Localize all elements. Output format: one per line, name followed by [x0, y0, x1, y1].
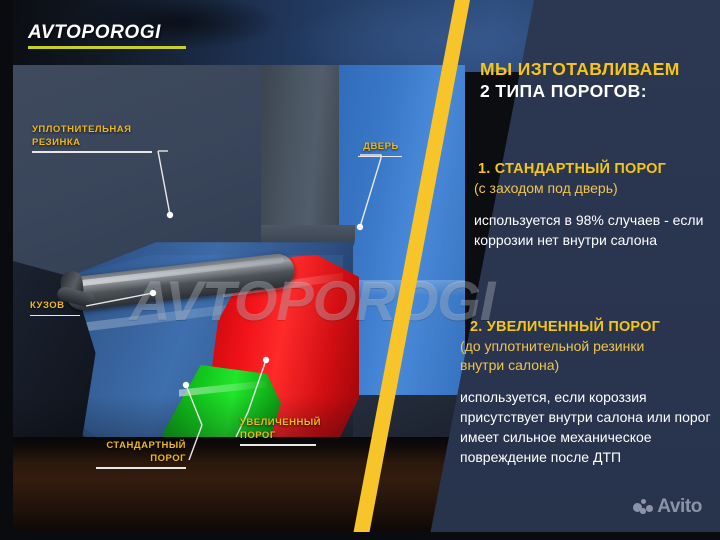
callout-enlarged-line-2: ПОРОГ	[240, 430, 276, 441]
section-2-title: 2. УВЕЛИЧЕННЫЙ ПОРОГ	[460, 318, 720, 337]
avito-wordmark: Avito	[657, 496, 702, 518]
section-1-title: 1. СТАНДАРТНЫЙ ПОРОГ	[468, 160, 720, 179]
callout-enlarged-line-1: УВЕЛИЧЕННЫЙ	[240, 417, 321, 428]
section-2-subtitle-line-1: (до уплотнительной резинки	[460, 337, 720, 356]
callout-body-underline	[30, 315, 80, 317]
frame-bottom-border	[0, 532, 720, 540]
callout-door-line-1: ДВЕРЬ	[363, 141, 399, 152]
panel-heading: МЫ ИЗГОТАВЛИВАЕМ 2 ТИПА ПОРОГОВ:	[480, 58, 718, 102]
callout-seal-underline	[32, 151, 152, 153]
callout-door-underline	[358, 156, 402, 158]
heading-line-1: МЫ ИЗГОТАВЛИВАЕМ	[480, 58, 718, 80]
section-1-body: используется в 98% случаев - если корроз…	[468, 210, 720, 250]
callout-standard-underline	[96, 467, 186, 469]
door-panel-part	[261, 65, 339, 250]
callout-seal-line-2: РЕЗИНКА	[32, 137, 80, 148]
section-1-subtitle: (с заходом под дверь)	[468, 179, 720, 198]
callout-label-seal: УПЛОТНИТЕЛЬНАЯ РЕЗИНКА	[32, 124, 162, 153]
callout-seal-line-1: УПЛОТНИТЕЛЬНАЯ	[32, 124, 131, 135]
callout-label-door: ДВЕРЬ	[358, 141, 404, 157]
callout-body-line-1: КУЗОВ	[30, 300, 65, 311]
callout-standard-line-1: СТАНДАРТНЫЙ	[106, 440, 186, 451]
callout-enlarged-underline	[240, 444, 316, 446]
brand-logo-underline	[28, 46, 186, 49]
avito-watermark: Avito	[633, 496, 702, 518]
brand-logo-text: AVTOPOROGI	[28, 22, 186, 44]
section-standard-sill: 1. СТАНДАРТНЫЙ ПОРОГ (с заходом под двер…	[468, 160, 720, 250]
avito-dots-icon	[633, 499, 652, 515]
section-enlarged-sill: 2. УВЕЛИЧЕННЫЙ ПОРОГ (до уплотнительной …	[460, 318, 720, 467]
callout-label-standard: СТАНДАРТНЫЙ ПОРОГ	[82, 440, 186, 469]
callout-label-enlarged: УВЕЛИЧЕННЫЙ ПОРОГ	[240, 417, 332, 446]
section-2-body: используется, если короззия присутствует…	[460, 387, 720, 467]
callout-label-body: КУЗОВ	[30, 300, 86, 316]
info-panel-content: МЫ ИЗГОТАВЛИВАЕМ 2 ТИПА ПОРОГОВ: 1. СТАН…	[420, 0, 720, 540]
callout-standard-line-2: ПОРОГ	[150, 453, 186, 464]
brand-logo[interactable]: AVTOPOROGI	[28, 22, 186, 49]
section-2-subtitle-line-2: внутри салона)	[460, 356, 720, 375]
floor-ground-area	[13, 437, 465, 532]
frame-left-border	[0, 0, 13, 540]
heading-line-2: 2 ТИПА ПОРОГОВ:	[480, 80, 718, 102]
poster-canvas: AVTOPOROGI МЫ ИЗГОТАВЛИВАЕМ 2 ТИПА ПОРОГ…	[0, 0, 720, 540]
